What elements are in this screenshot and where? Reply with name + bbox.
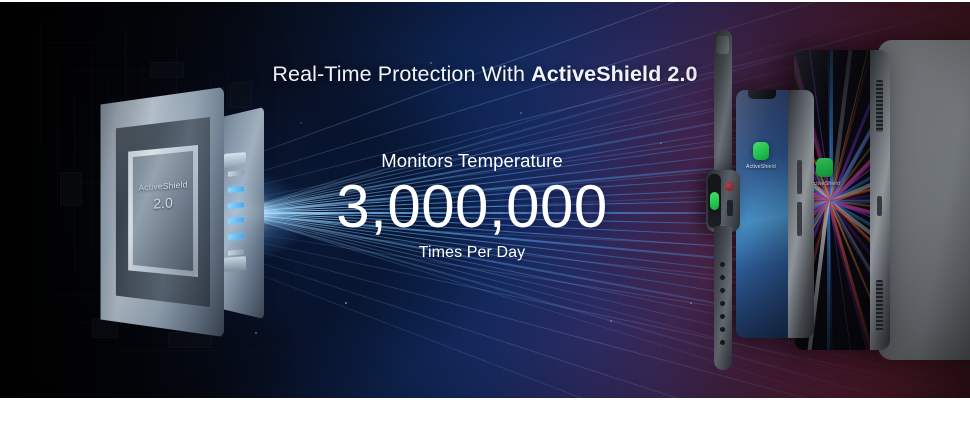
vignette — [0, 2, 970, 398]
product-banner: ActiveShield 2.0 Real-Time Protection Wi… — [0, 2, 970, 398]
